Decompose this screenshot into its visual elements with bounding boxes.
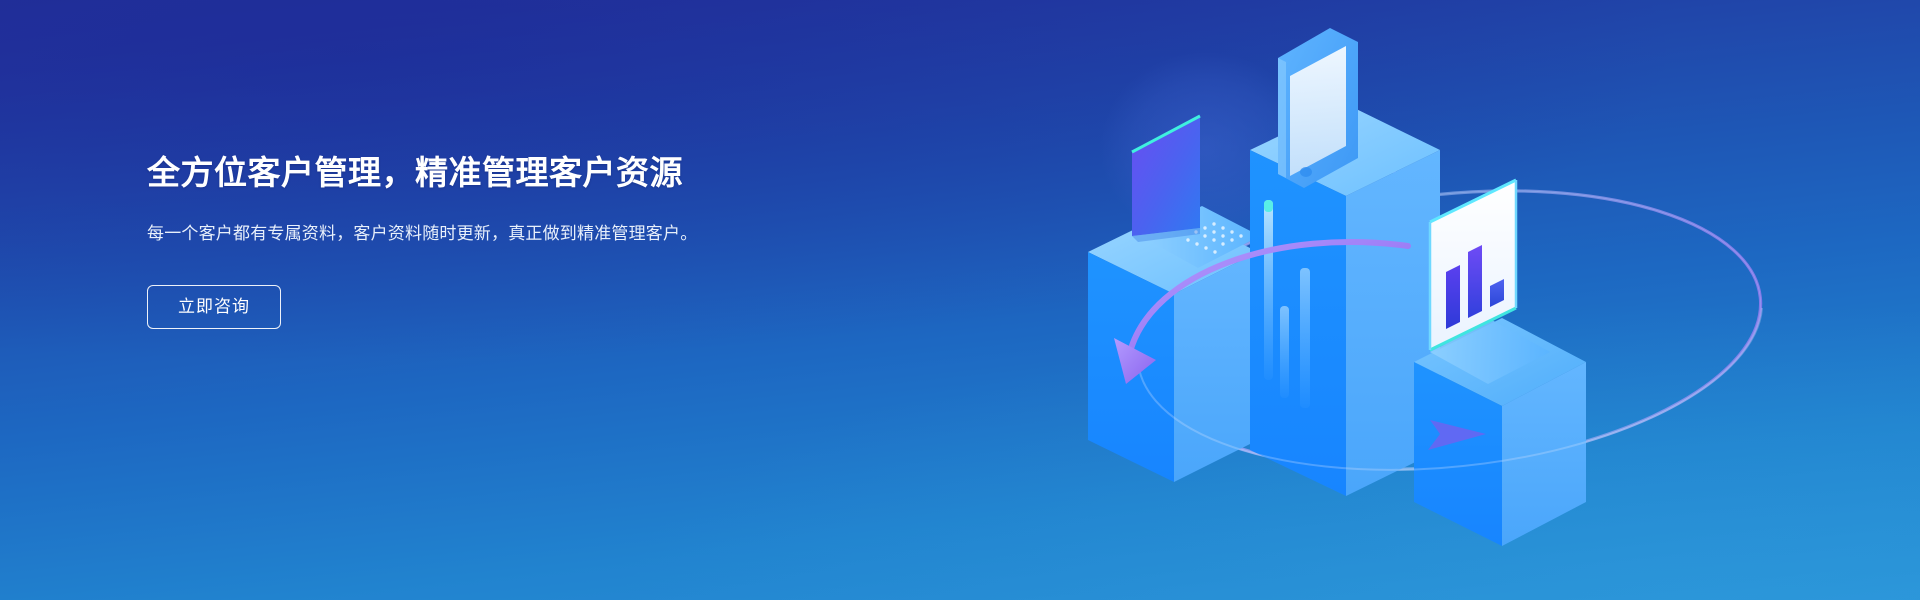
monitor-icon (1430, 180, 1550, 384)
hero-banner: 全方位客户管理，精准管理客户资源 每一个客户都有专属资料，客户资料随时更新，真正… (0, 0, 1920, 600)
page-title: 全方位客户管理，精准管理客户资源 (147, 150, 787, 196)
banner-copy: 全方位客户管理，精准管理客户资源 每一个客户都有专属资料，客户资料随时更新，真正… (147, 150, 787, 329)
tablet-home-button (1300, 167, 1312, 177)
hero-illustration (1078, 0, 1858, 600)
banner-subtitle: 每一个客户都有专属资料，客户资料随时更新，真正做到精准管理客户。 (147, 220, 737, 247)
tablet-icon (1278, 28, 1358, 188)
consult-now-button[interactable]: 立即咨询 (147, 285, 281, 329)
